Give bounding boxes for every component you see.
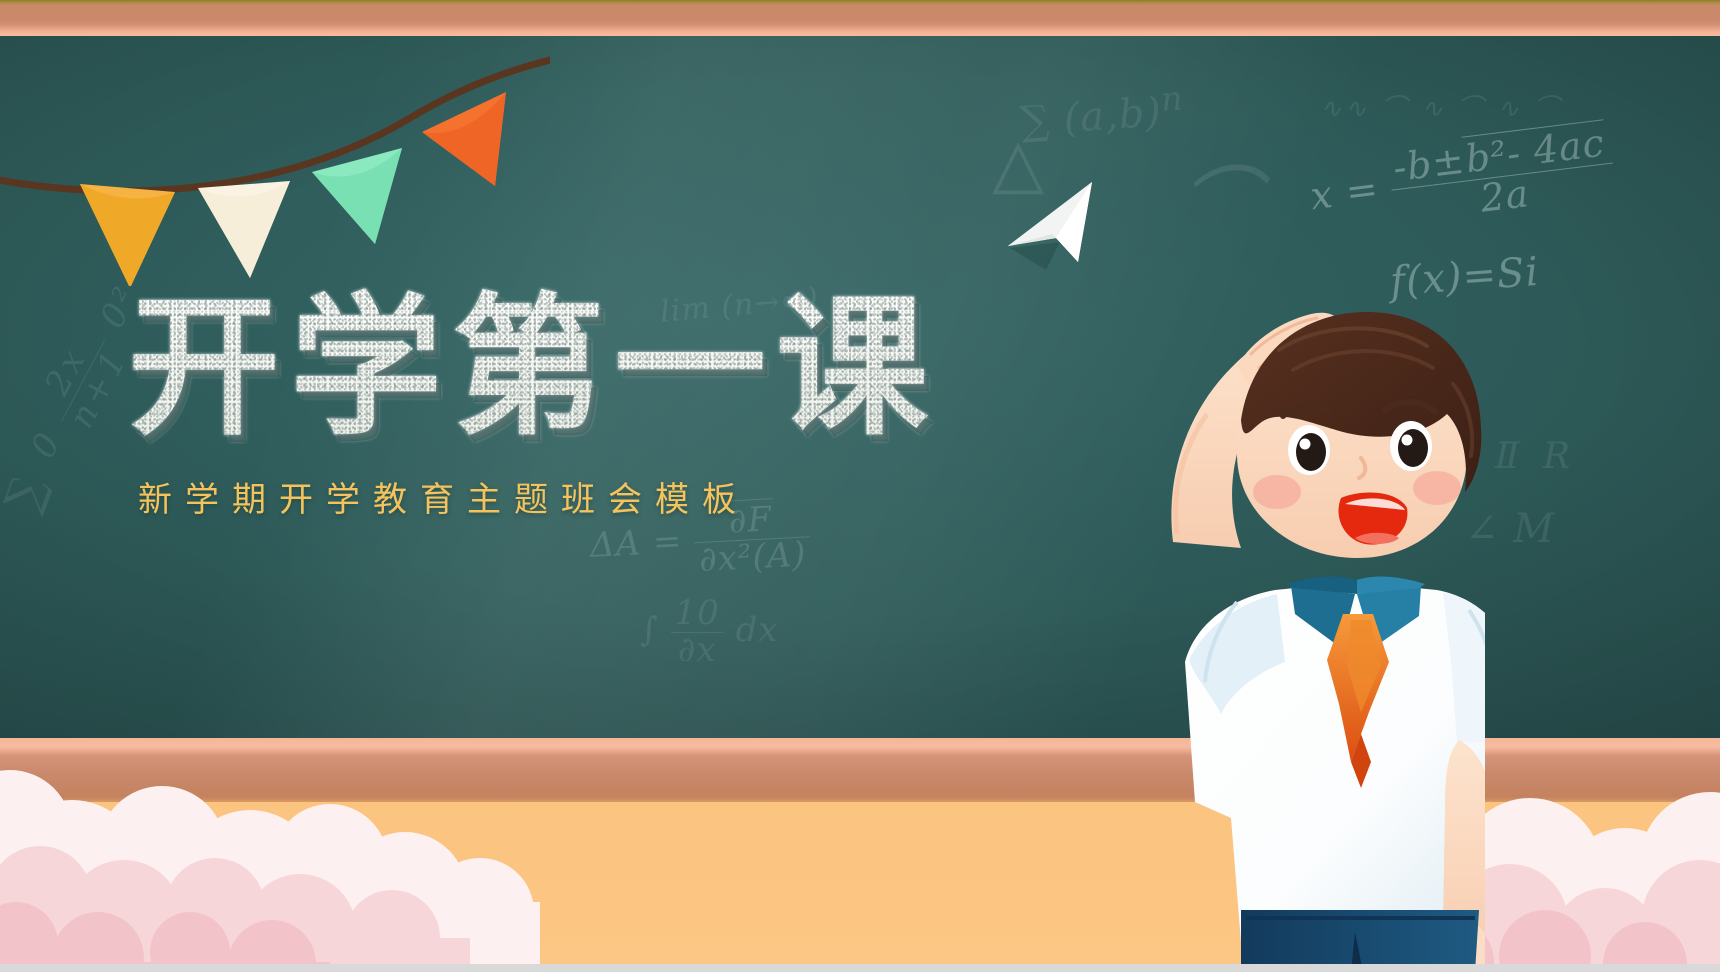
eye-right xyxy=(1390,421,1432,471)
school-shorts xyxy=(1241,910,1479,972)
eye-left xyxy=(1288,425,1330,475)
bottom-edge-strip xyxy=(0,964,1720,972)
chalkboard-frame-top xyxy=(0,0,1720,36)
page-subtitle: 新学期开学教育主题班会模板 xyxy=(138,472,1048,521)
uniform-shirt xyxy=(1185,577,1485,942)
slide-canvas: ∑ (a,b)n ∿∿ ⌒ ∿ ⌒ ∿ ⌒ x = -b±b²- 4ac 2a … xyxy=(0,0,1720,972)
flag-mint xyxy=(312,148,402,244)
flag-cream xyxy=(198,181,290,278)
flag-yellow xyxy=(80,184,175,286)
headline-block: 开学第一课 开学第一课 新学期开学教育主题班会模板 xyxy=(128,286,1048,521)
bunting-decoration xyxy=(0,56,550,286)
page-title: 开学第一课 xyxy=(128,286,1048,450)
saluting-schoolboy xyxy=(1055,242,1485,972)
